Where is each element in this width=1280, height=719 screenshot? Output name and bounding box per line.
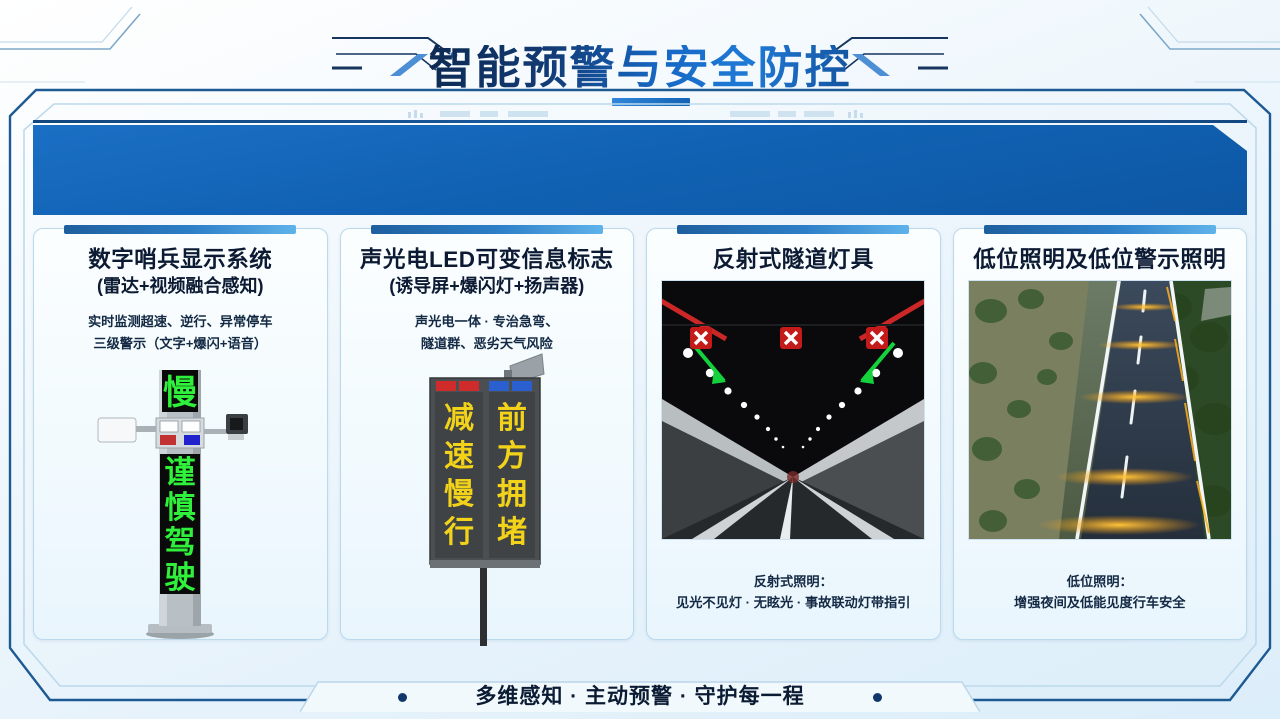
card-title: 反射式隧道灯具 bbox=[713, 247, 874, 274]
footer: 多维感知 · 主动预警 · 守护每一程 bbox=[0, 672, 1280, 718]
sentry-top-screen-text: 慢 bbox=[163, 374, 198, 412]
card-reflective-tunnel-lighting[interactable]: 反射式隧道灯具 bbox=[646, 228, 941, 640]
svg-text:驶: 驶 bbox=[165, 560, 196, 595]
svg-text:谨: 谨 bbox=[165, 455, 196, 490]
svg-text:驾: 驾 bbox=[165, 525, 196, 560]
svg-text:减: 减 bbox=[444, 402, 474, 435]
footer-dot-left bbox=[398, 693, 407, 702]
card-subtitle: (雷达+视频融合感知) bbox=[97, 276, 264, 298]
caption-line-2: 见光不见灯 · 无眩光 · 事故联动灯带指引 bbox=[661, 592, 926, 613]
card-caption: 低位照明： 增强夜间及低能见度行车安全 bbox=[968, 571, 1233, 613]
card-title: 低位照明及低位警示照明 bbox=[973, 247, 1226, 274]
card-desc-line-1: 声光电一体 · 专治急弯、 bbox=[415, 311, 559, 332]
page-title-wrap: 智能预警与安全防控 bbox=[0, 34, 1280, 100]
card-digital-sentry[interactable]: 数字哨兵显示系统 (雷达+视频融合感知) 实时监测超速、逆行、异常停车 三级警示… bbox=[33, 228, 328, 640]
svg-text:方: 方 bbox=[497, 439, 527, 473]
caption-line-1: 低位照明： bbox=[968, 571, 1233, 592]
banner-top-line bbox=[33, 120, 1247, 123]
svg-text:堵: 堵 bbox=[497, 516, 527, 549]
aerial-road-photo bbox=[968, 280, 1232, 540]
page-title: 智能预警与安全防控 bbox=[428, 45, 851, 90]
svg-text:前: 前 bbox=[497, 402, 527, 435]
svg-text:拥: 拥 bbox=[497, 478, 527, 511]
digital-sentry-pole-icon: 慢 谨 bbox=[90, 362, 270, 642]
caption-line-2: 增强夜间及低能见度行车安全 bbox=[968, 592, 1233, 613]
hero-banner bbox=[33, 125, 1247, 215]
card-caption: 反射式照明： 见光不见灯 · 无眩光 · 事故联动灯带指引 bbox=[661, 571, 926, 613]
card-led-vms[interactable]: 声光电LED可变信息标志 (诱导屏+爆闪灯+扬声器) 声光电一体 · 专治急弯、… bbox=[340, 228, 635, 640]
led-vms-sign-icon: 减 速 慢 行 前 方 拥 堵 bbox=[392, 348, 582, 648]
svg-text:速: 速 bbox=[444, 440, 474, 473]
svg-text:慢: 慢 bbox=[444, 478, 475, 511]
illustration-area: 减 速 慢 行 前 方 拥 堵 bbox=[355, 354, 620, 627]
caption-line-1: 反射式照明： bbox=[661, 571, 926, 592]
banner-tick-marks bbox=[400, 109, 880, 119]
tunnel-photo bbox=[661, 280, 925, 540]
svg-text:慎: 慎 bbox=[165, 490, 196, 525]
card-description: 实时监测超速、逆行、异常停车 三级警示（文字+爆闪+语音） bbox=[88, 311, 273, 354]
card-title: 声光电LED可变信息标志 bbox=[360, 247, 614, 274]
footer-dot-right bbox=[873, 693, 882, 702]
cards-row: 数字哨兵显示系统 (雷达+视频融合感知) 实时监测超速、逆行、异常停车 三级警示… bbox=[33, 228, 1247, 640]
card-subtitle: (诱导屏+爆闪灯+扬声器) bbox=[389, 276, 584, 298]
illustration-area: 慢 谨 bbox=[48, 354, 313, 627]
title-underline bbox=[612, 98, 690, 106]
card-desc-line-2: 三级警示（文字+爆闪+语音） bbox=[88, 333, 273, 354]
card-low-position-lighting[interactable]: 低位照明及低位警示照明 bbox=[953, 228, 1248, 640]
footer-text: 多维感知 · 主动预警 · 守护每一程 bbox=[475, 680, 804, 710]
illustration-area: 低位照明： 增强夜间及低能见度行车安全 bbox=[968, 274, 1233, 627]
svg-text:行: 行 bbox=[443, 516, 474, 549]
card-desc-line-1: 实时监测超速、逆行、异常停车 bbox=[88, 311, 273, 332]
illustration-area: 反射式照明： 见光不见灯 · 无眩光 · 事故联动灯带指引 bbox=[661, 274, 926, 627]
card-title: 数字哨兵显示系统 bbox=[88, 247, 272, 274]
